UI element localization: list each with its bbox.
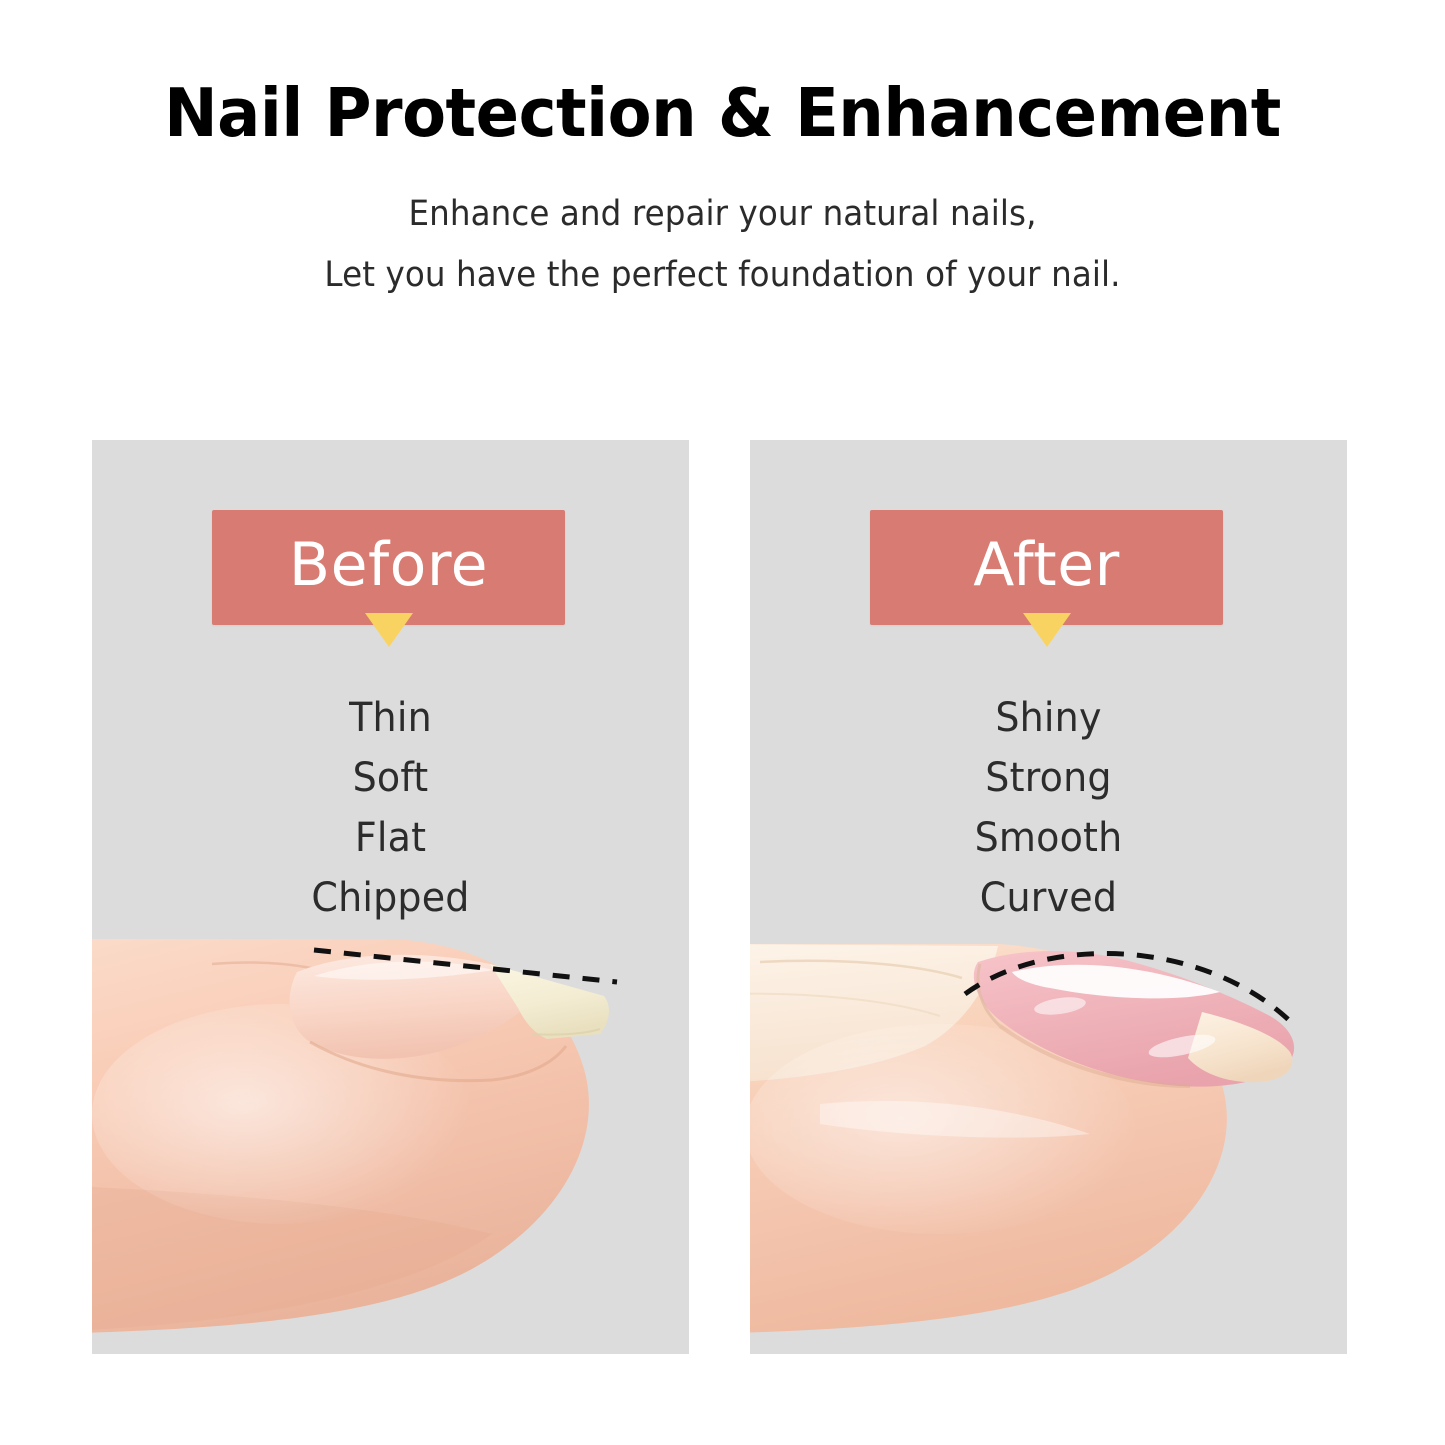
feature-item: Curved	[765, 868, 1332, 928]
banner-after-box: After	[870, 510, 1223, 625]
feature-list-after: Shiny Strong Smooth Curved	[750, 688, 1347, 928]
feature-item: Flat	[107, 808, 674, 868]
subtitle-block: Enhance and repair your natural nails, L…	[0, 184, 1445, 304]
before-nail-illustration	[92, 934, 689, 1354]
banner-before-box: Before	[212, 510, 565, 625]
banner-before-label: Before	[289, 535, 488, 601]
photo-before	[92, 934, 689, 1354]
page-title: Nail Protection & Enhancement	[33, 78, 1413, 148]
feature-item: Strong	[765, 748, 1332, 808]
feature-item: Shiny	[765, 688, 1332, 748]
subtitle-line-1: Enhance and repair your natural nails,	[51, 184, 1395, 244]
feature-item: Thin	[107, 688, 674, 748]
feature-item: Chipped	[107, 868, 674, 928]
poster-root: Nail Protection & Enhancement Enhance an…	[0, 0, 1445, 1445]
photo-after	[750, 934, 1347, 1354]
banner-before: Before	[212, 510, 565, 625]
banner-after: After	[870, 510, 1223, 625]
banner-after-label: After	[973, 535, 1120, 601]
after-nail-illustration	[750, 934, 1347, 1354]
panel-before: Before Thin Soft Flat Chipped	[92, 440, 689, 1354]
subtitle-line-2: Let you have the perfect foundation of y…	[51, 245, 1395, 305]
feature-item: Smooth	[765, 808, 1332, 868]
feature-item: Soft	[107, 748, 674, 808]
triangle-down-icon	[1023, 613, 1071, 647]
triangle-down-icon	[365, 613, 413, 647]
header: Nail Protection & Enhancement Enhance an…	[0, 0, 1445, 305]
panel-after: After Shiny Strong Smooth Curved	[750, 440, 1347, 1354]
comparison-panels: Before Thin Soft Flat Chipped	[92, 440, 1351, 1354]
feature-list-before: Thin Soft Flat Chipped	[92, 688, 689, 928]
